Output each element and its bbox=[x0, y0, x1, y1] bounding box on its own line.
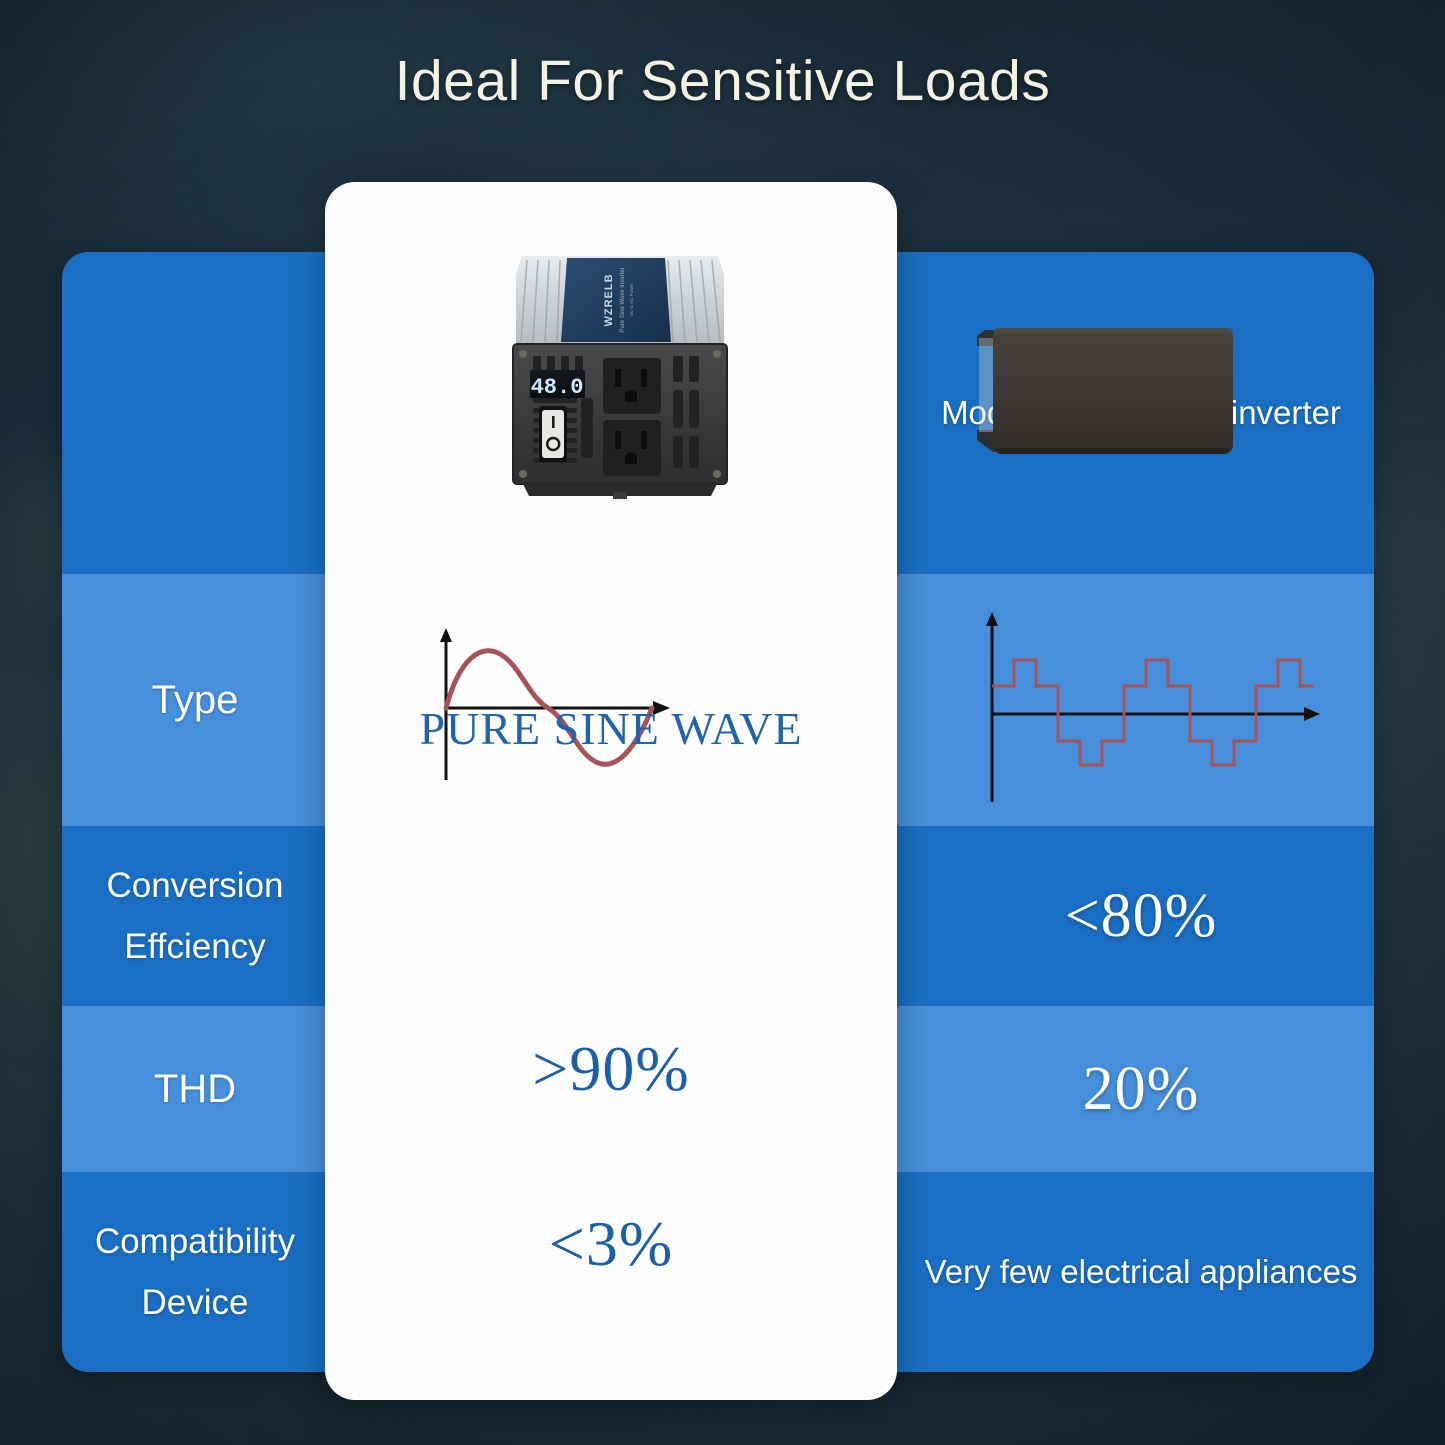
row-modified-cell-conversion-efficiency: <80% bbox=[908, 826, 1374, 1006]
row-label-cell-header bbox=[62, 252, 328, 574]
modified-sine-wave-chart bbox=[970, 610, 1340, 815]
infographic-root: Ideal For Sensitive Loads Modifled sine … bbox=[0, 0, 1445, 1445]
row-label-conversion-efficiency: Conversion Effciency bbox=[106, 855, 283, 978]
row-label-line1: Conversion bbox=[106, 866, 283, 905]
row-label-compatibility-device: Compatibility Device bbox=[95, 1211, 295, 1334]
inverter-icon: WZRELB Pure Sine Wave Inverter DC to AC … bbox=[475, 248, 762, 506]
modified-value-thd: 20% bbox=[1083, 1054, 1200, 1125]
modified-value-compatibility-device: Very few electrical appliances bbox=[925, 1253, 1358, 1291]
ac-outlet-bottom bbox=[603, 420, 661, 476]
row-label-line2: Effciency bbox=[124, 927, 265, 966]
row-label-type: Type bbox=[152, 665, 239, 735]
modified-inverter-icon bbox=[963, 312, 1261, 475]
led-display-value: 48.0 bbox=[531, 375, 584, 400]
ac-outlet-top bbox=[603, 358, 661, 414]
pure-value-thd: <3% bbox=[325, 1207, 897, 1281]
y-axis-arrow bbox=[986, 612, 998, 626]
row-label-line1: Compatibility bbox=[95, 1222, 295, 1261]
pure-value-conversion-efficiency: >90% bbox=[325, 1032, 897, 1106]
svg-text:Pure Sine Wave Inverter: Pure Sine Wave Inverter bbox=[620, 267, 626, 332]
pure-value-compatibility-device: >99% bbox=[325, 1397, 897, 1400]
pure-sine-inverter-image: WZRELB Pure Sine Wave Inverter DC to AC … bbox=[475, 248, 762, 506]
modified-inverter-image bbox=[963, 312, 1261, 475]
page-title: Ideal For Sensitive Loads bbox=[0, 48, 1445, 114]
modified-sine-wave-icon bbox=[970, 610, 1340, 815]
card-heading: PURE SINE WAVE bbox=[325, 702, 897, 755]
row-modified-cell-compatibility-device: Very few electrical appliances bbox=[908, 1172, 1374, 1372]
row-label-cell-conversion-efficiency: Conversion Effciency bbox=[62, 826, 328, 1006]
modified-value-conversion-efficiency: <80% bbox=[1065, 881, 1218, 952]
svg-text:DC to AC Power: DC to AC Power bbox=[629, 283, 634, 316]
row-label-thd: THD bbox=[154, 1054, 236, 1124]
row-label-cell-compatibility-device: Compatibility Device bbox=[62, 1172, 328, 1372]
svg-text:WZRELB: WZRELB bbox=[603, 273, 615, 326]
row-label-cell-type: Type bbox=[62, 574, 328, 826]
x-axis-arrow bbox=[1304, 707, 1320, 721]
row-modified-cell-thd: 20% bbox=[908, 1006, 1374, 1172]
pure-sine-wave-card: WZRELB Pure Sine Wave Inverter DC to AC … bbox=[325, 182, 897, 1400]
row-label-line2: Device bbox=[142, 1283, 249, 1322]
row-label-cell-thd: THD bbox=[62, 1006, 328, 1172]
y-axis-arrow bbox=[440, 628, 452, 642]
